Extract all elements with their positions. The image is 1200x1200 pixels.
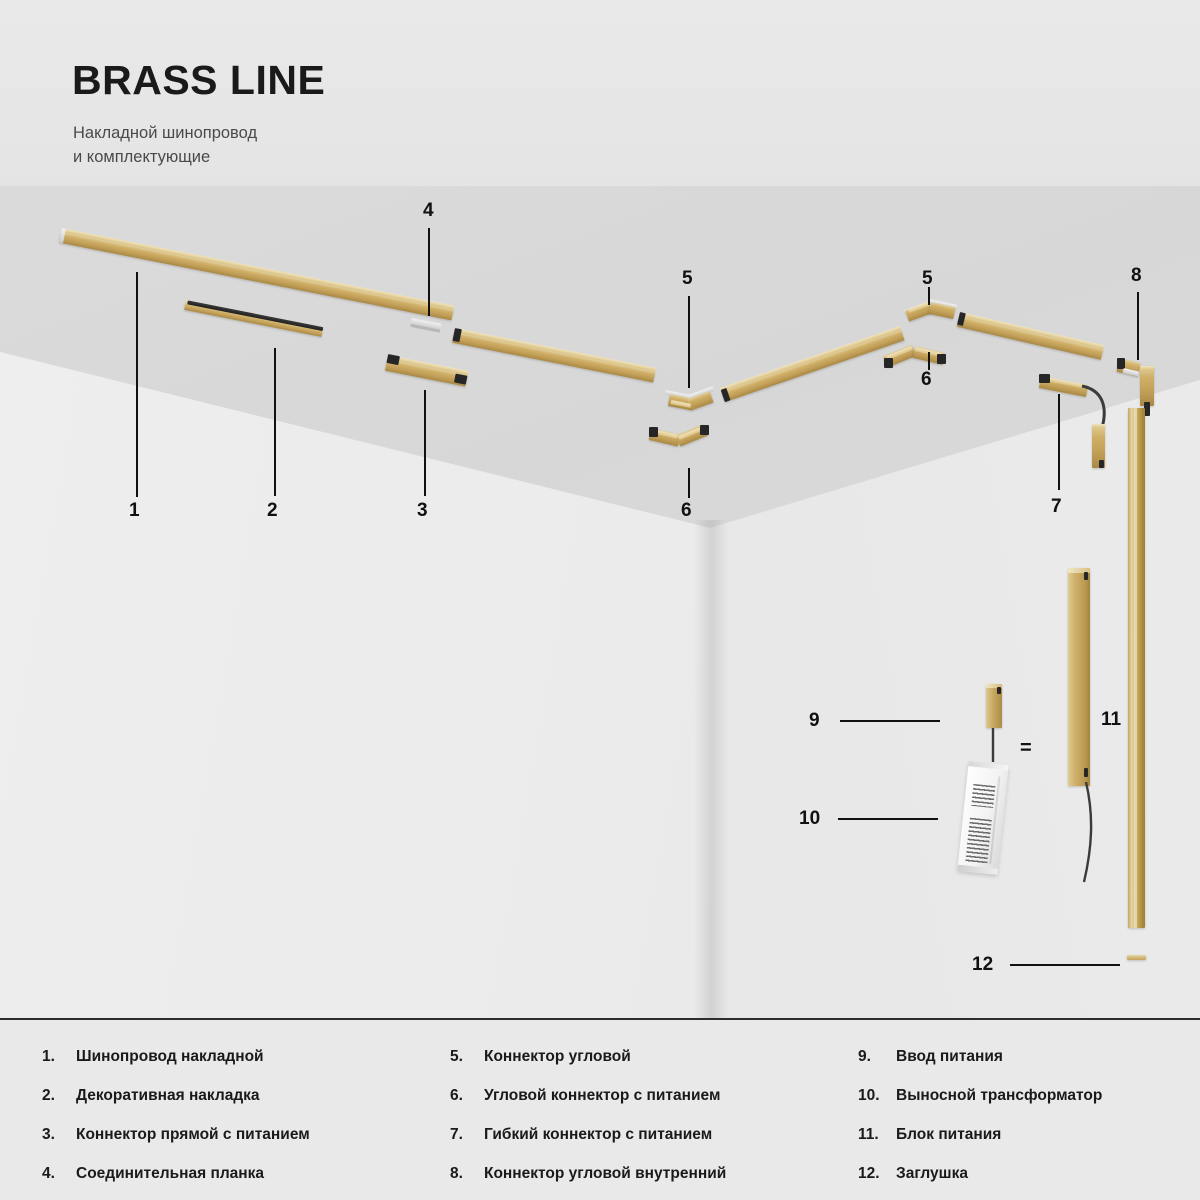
legend-column-3: 9. Ввод питания 10. Выносной трансформат…	[858, 1048, 1198, 1200]
legend-item-text: Ввод питания	[896, 1048, 1003, 1066]
legend-item-text: Выносной трансформатор	[896, 1087, 1102, 1105]
callout-label-6a: 6	[681, 501, 692, 520]
legend-item-text: Шинопровод накладной	[76, 1048, 264, 1066]
legend-item-number: 9.	[858, 1048, 896, 1066]
leader-line-4	[428, 228, 430, 316]
legend-item: 6. Угловой коннектор с питанием	[450, 1087, 850, 1126]
legend-item-number: 11.	[858, 1126, 896, 1144]
leader-line-8	[1137, 292, 1139, 360]
callout-label-10: 10	[799, 809, 820, 828]
leader-line-1	[136, 272, 138, 497]
legend-item: 10. Выносной трансформатор	[858, 1087, 1198, 1126]
power-input-cable-icon	[990, 728, 1010, 764]
legend-item-number: 6.	[450, 1087, 484, 1105]
legend-item: 5. Коннектор угловой	[450, 1048, 850, 1087]
equals-symbol: =	[1020, 738, 1032, 758]
callout-label-9: 9	[809, 711, 820, 730]
brass-line-product-diagram: BRASS LINE Накладной шинопровод и компле…	[0, 0, 1200, 1200]
callout-label-2: 2	[267, 501, 278, 520]
power-block-cable-icon	[1080, 782, 1110, 892]
legend-item-text: Заглушка	[896, 1165, 968, 1183]
leader-line-10	[838, 818, 938, 820]
leader-line-7	[1058, 394, 1060, 490]
legend-item: 7. Гибкий коннектор с питанием	[450, 1126, 850, 1165]
legend-item-text: Декоративная накладка	[76, 1087, 260, 1105]
leader-line-6b	[928, 352, 930, 370]
legend-item-number: 1.	[42, 1048, 76, 1066]
leader-line-2	[274, 348, 276, 496]
callout-label-12: 12	[972, 955, 993, 974]
legend-item-number: 8.	[450, 1165, 484, 1183]
legend-item: 1. Шинопровод накладной	[42, 1048, 442, 1087]
legend-item-text: Гибкий коннектор с питанием	[484, 1126, 712, 1144]
leader-line-9	[840, 720, 940, 722]
legend-item-text: Коннектор угловой	[484, 1048, 631, 1066]
leader-line-5b	[928, 287, 930, 305]
leader-line-3	[424, 390, 426, 496]
page-title: BRASS LINE	[72, 60, 325, 101]
legend-item-number: 7.	[450, 1126, 484, 1144]
leader-line-5a	[688, 296, 690, 388]
leader-line-12	[1010, 964, 1120, 966]
legend-item: 12. Заглушка	[858, 1165, 1198, 1200]
wall-corner-shading	[694, 520, 728, 1018]
legend-item: 3. Коннектор прямой с питанием	[42, 1126, 442, 1165]
leader-line-6a	[688, 468, 690, 498]
callout-label-5a: 5	[682, 269, 693, 288]
legend-item-text: Коннектор прямой с питанием	[76, 1126, 310, 1144]
legend-item-number: 3.	[42, 1126, 76, 1144]
callout-label-8: 8	[1131, 266, 1142, 285]
callout-label-7: 7	[1051, 497, 1062, 516]
legend-item-number: 4.	[42, 1165, 76, 1183]
callout-label-3: 3	[417, 501, 428, 520]
callout-label-1: 1	[129, 501, 140, 520]
callout-label-4: 4	[423, 201, 434, 220]
legend-column-2: 5. Коннектор угловой 6. Угловой коннекто…	[450, 1048, 850, 1200]
legend: 1. Шинопровод накладной 2. Декоративная …	[0, 1020, 1200, 1200]
legend-item: 11. Блок питания	[858, 1126, 1198, 1165]
legend-item: 9. Ввод питания	[858, 1048, 1198, 1087]
legend-item: 8. Коннектор угловой внутренний	[450, 1165, 850, 1200]
callout-label-11: 11	[1101, 710, 1121, 729]
callout-label-5b: 5	[922, 269, 933, 288]
room-scene: BRASS LINE Накладной шинопровод и компле…	[0, 0, 1200, 1018]
legend-item-number: 10.	[858, 1087, 896, 1105]
legend-item-number: 12.	[858, 1165, 896, 1183]
legend-item-number: 2.	[42, 1087, 76, 1105]
legend-column-1: 1. Шинопровод накладной 2. Декоративная …	[42, 1048, 442, 1200]
legend-item-number: 5.	[450, 1048, 484, 1066]
legend-item-text: Коннектор угловой внутренний	[484, 1165, 726, 1183]
legend-item-text: Соединительная планка	[76, 1165, 264, 1183]
legend-item-text: Блок питания	[896, 1126, 1001, 1144]
callout-label-6b: 6	[921, 370, 932, 389]
legend-item: 2. Декоративная накладка	[42, 1087, 442, 1126]
page-subtitle: Накладной шинопровод и комплектующие	[73, 122, 257, 170]
legend-item: 4. Соединительная планка	[42, 1165, 442, 1200]
legend-item-text: Угловой коннектор с питанием	[484, 1087, 720, 1105]
